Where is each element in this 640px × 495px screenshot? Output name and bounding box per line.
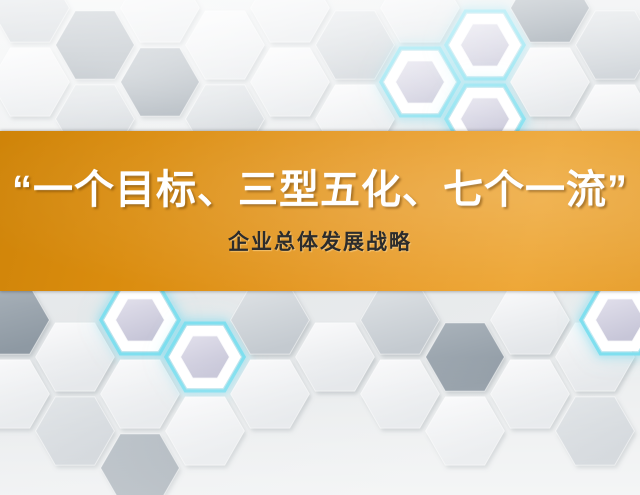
page-subtitle: 企业总体发展战略	[228, 226, 412, 256]
title-banner: “一个目标、三型五化、七个一流” 企业总体发展战略	[0, 131, 640, 291]
presentation-slide: “一个目标、三型五化、七个一流” 企业总体发展战略	[0, 0, 640, 495]
page-title: “一个目标、三型五化、七个一流”	[12, 166, 628, 213]
